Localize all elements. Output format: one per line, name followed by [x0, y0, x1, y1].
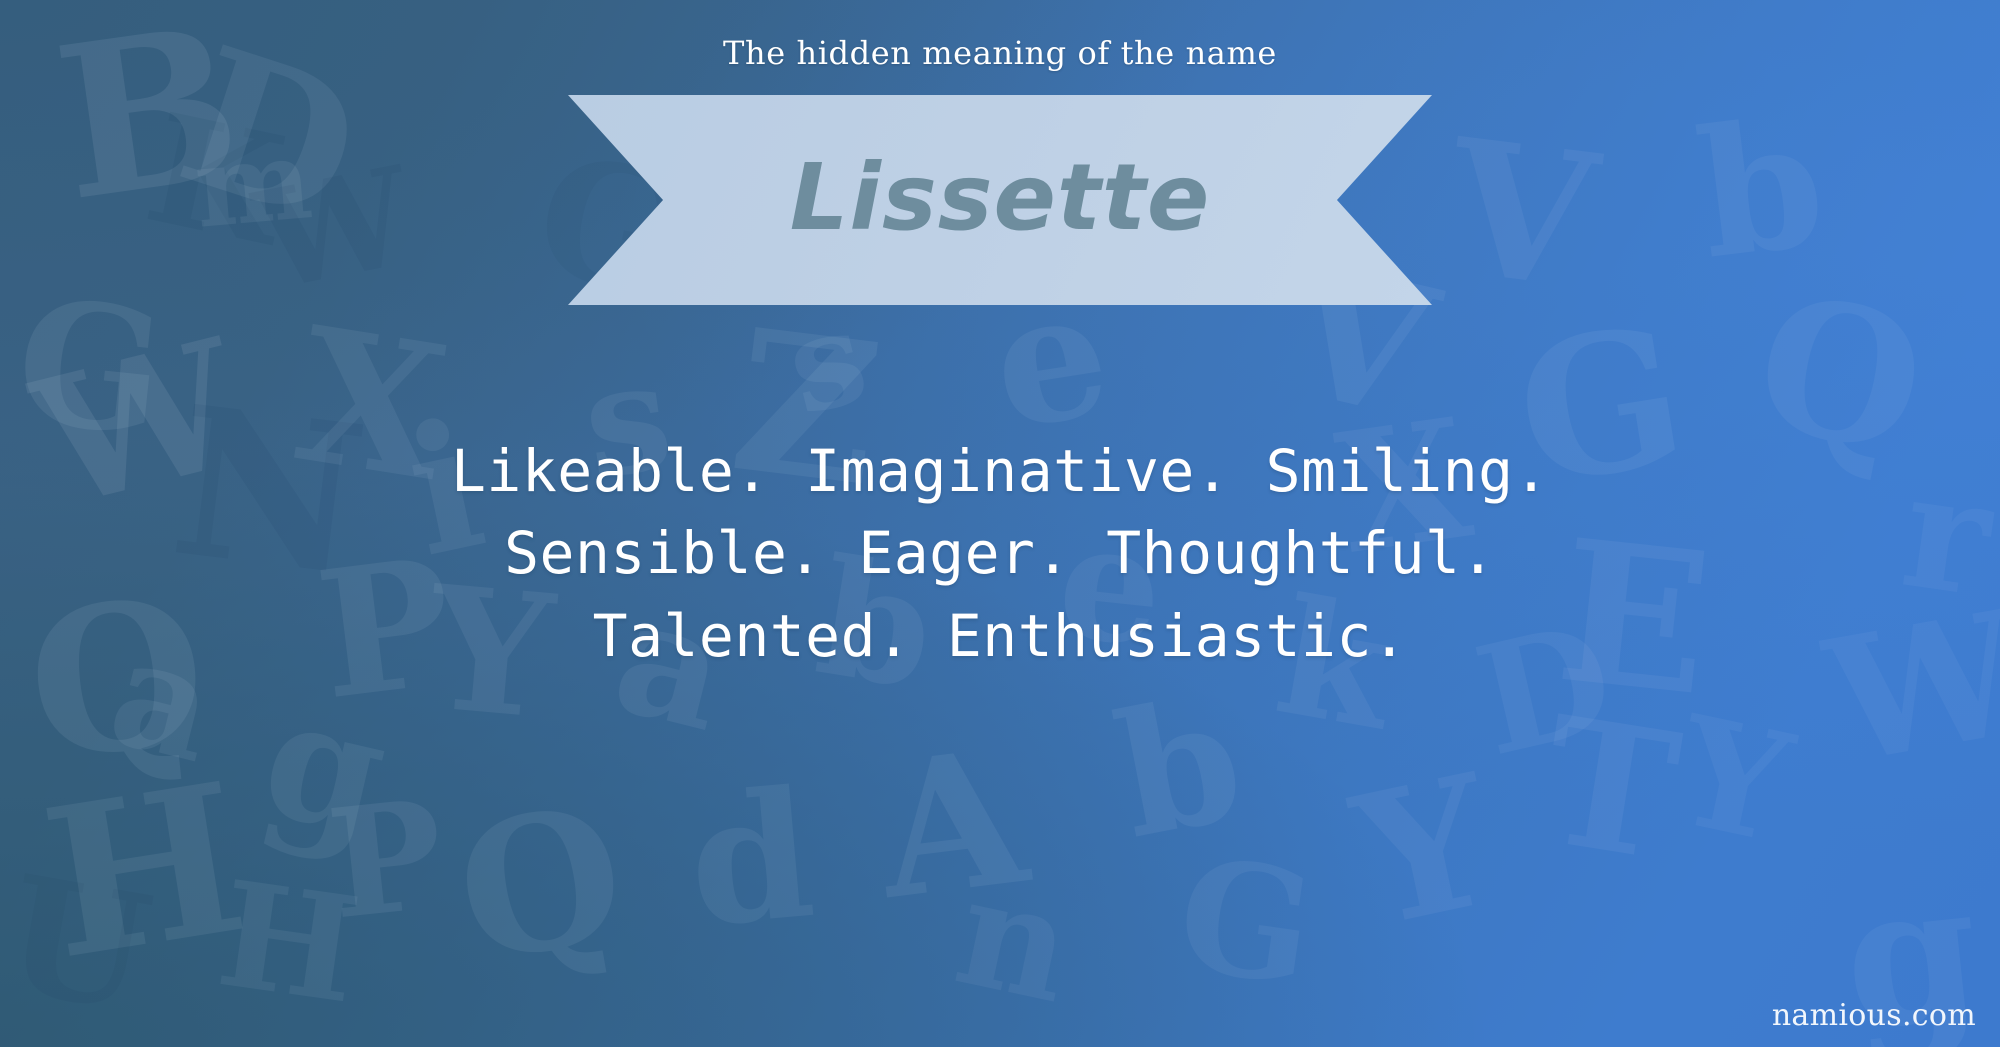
trait-list: Likeable. Imaginative. Smiling. Sensible…	[0, 430, 2000, 677]
background-letter: Q	[448, 797, 632, 971]
background-letter: P	[324, 794, 449, 925]
name-meaning-card: BKmGWNQaHUDWXPgPHiYQGsadZsbAneebGYVXkYVG…	[0, 0, 2000, 1047]
background-letter: b	[1108, 690, 1251, 846]
background-letter: d	[684, 785, 818, 935]
trait-line: Sensible. Eager. Thoughtful.	[0, 512, 2000, 594]
background-letter: H	[36, 776, 253, 968]
background-letter: W	[249, 162, 418, 297]
background-letter: n	[949, 870, 1081, 1010]
name-ribbon: Lissette	[568, 95, 1432, 305]
background-letter: H	[213, 876, 365, 1010]
name-text: Lissette	[790, 152, 1210, 244]
background-letter: Y	[1669, 710, 1799, 850]
background-letter: s	[779, 303, 875, 422]
background-letter: e	[985, 282, 1117, 438]
background-letter: G	[1172, 851, 1320, 992]
background-letter: Y	[1346, 768, 1502, 936]
trait-line: Talented. Enthusiastic.	[0, 595, 2000, 677]
site-watermark: namious.com	[1772, 998, 1976, 1033]
background-letter: m	[191, 135, 315, 233]
background-letter: T	[1535, 711, 1686, 870]
background-letter: b	[1692, 113, 1831, 267]
background-letter: A	[872, 742, 1033, 906]
background-letter: U	[0, 869, 158, 1019]
trait-line: Likeable. Imaginative. Smiling.	[0, 430, 2000, 512]
background-letter: K	[139, 108, 291, 252]
background-letter: G	[11, 293, 170, 443]
page-title: The hidden meaning of the name	[0, 34, 2000, 72]
background-letter: V	[1442, 132, 1603, 296]
background-letter: g	[255, 689, 397, 844]
